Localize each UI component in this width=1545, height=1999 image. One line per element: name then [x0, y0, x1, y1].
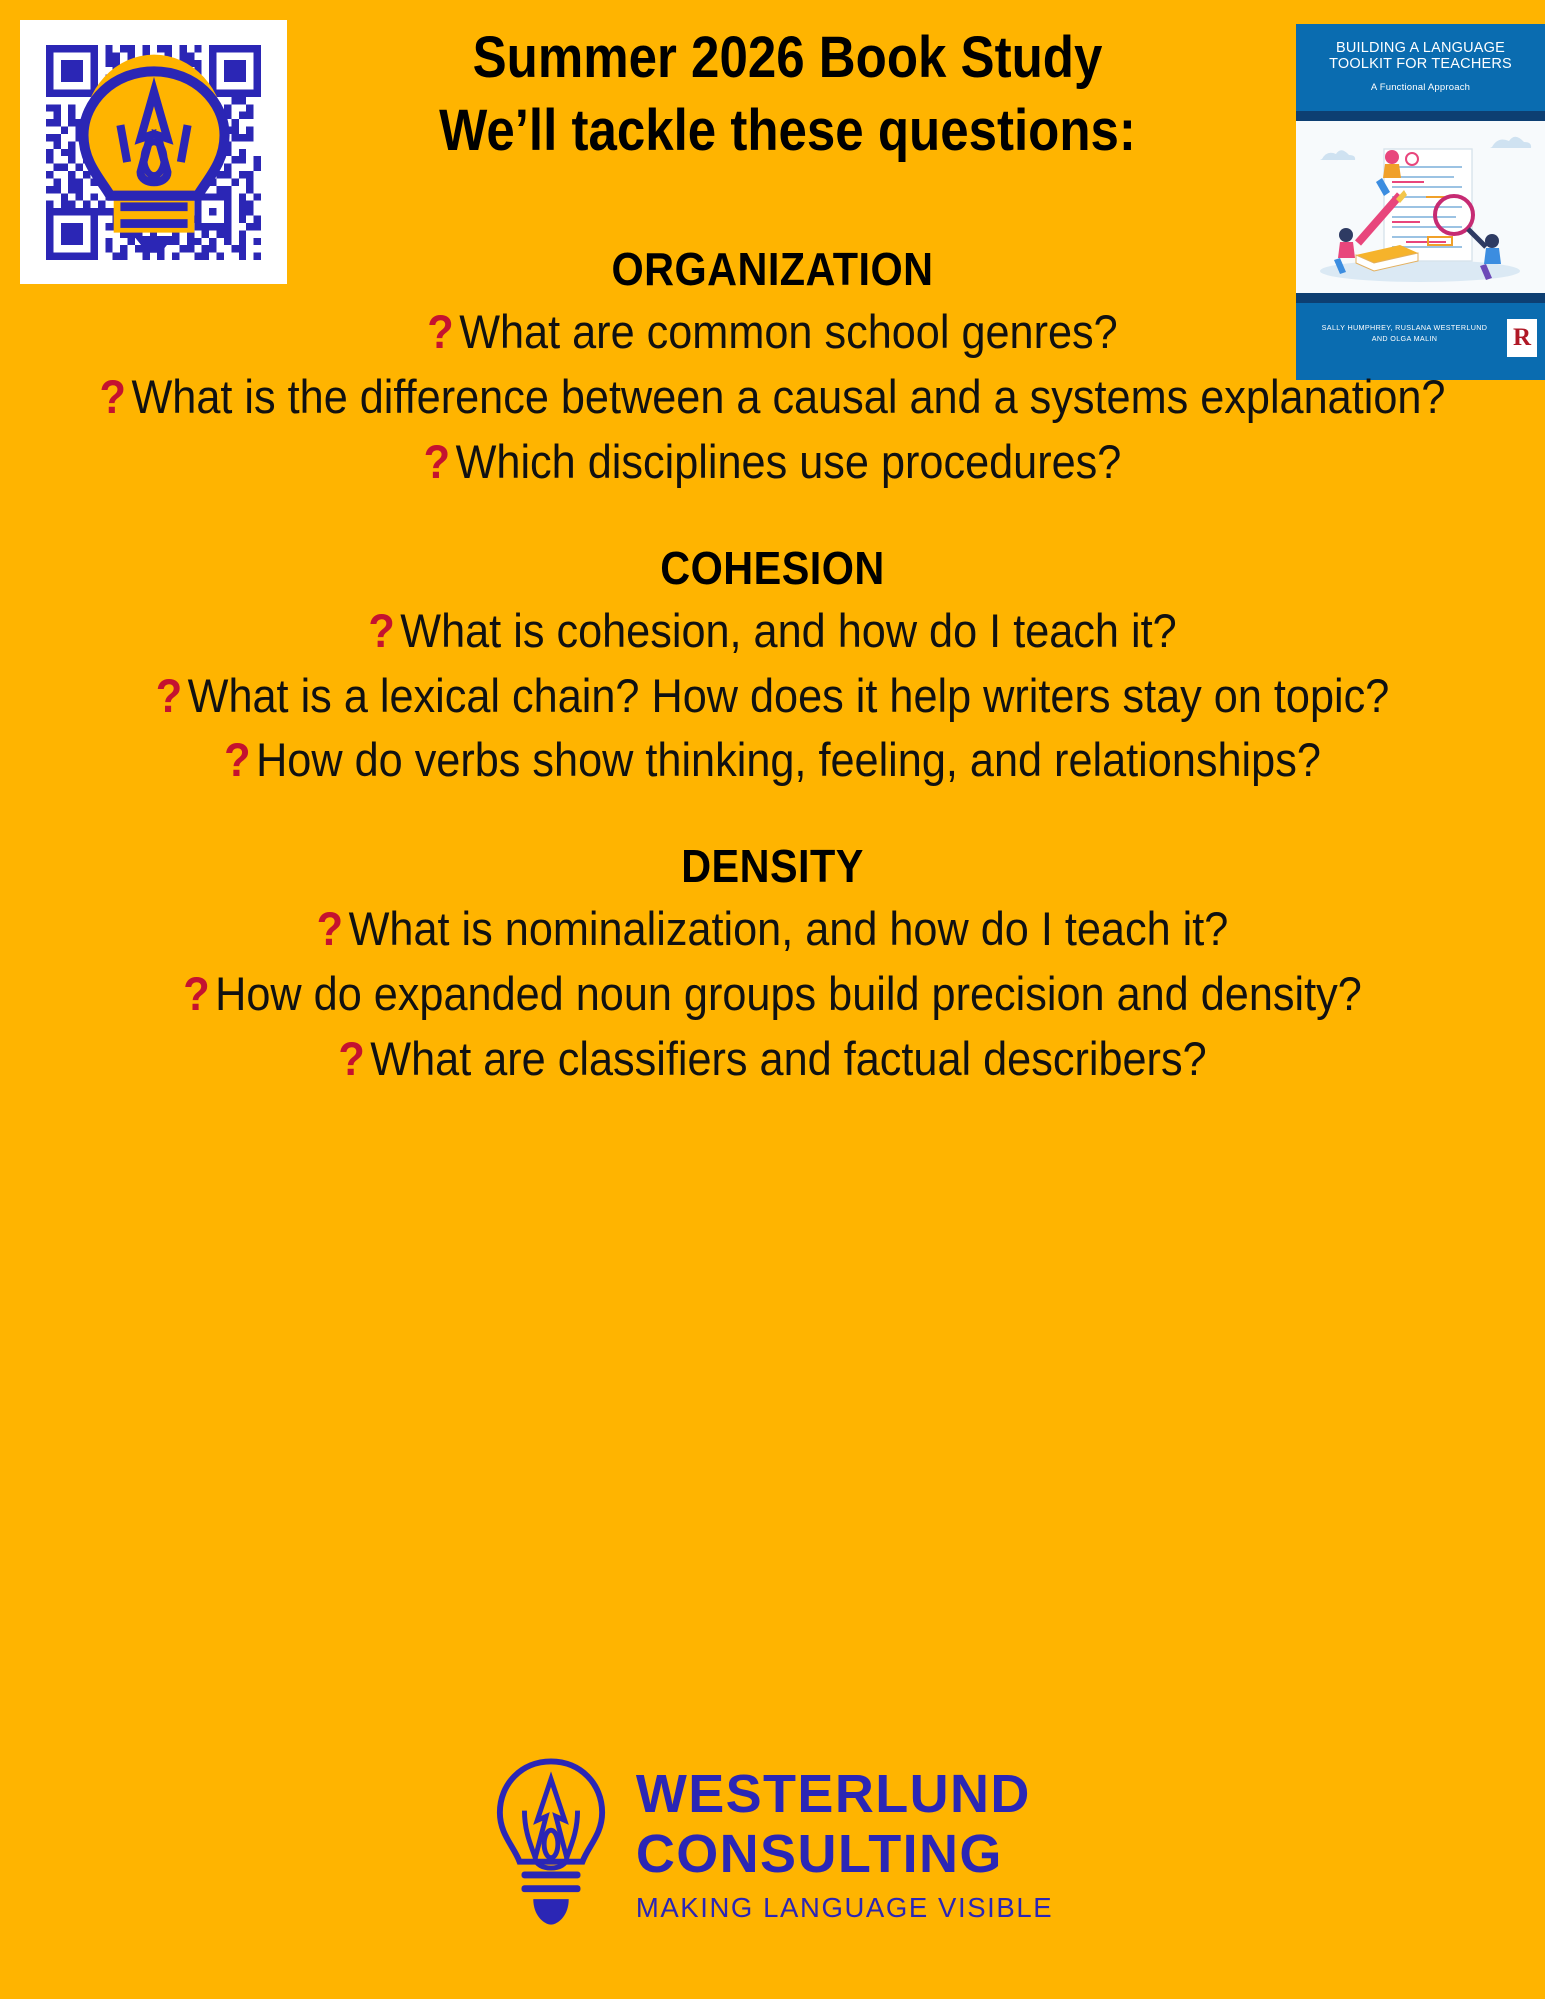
question-text: What is a lexical chain? How does it hel… [188, 669, 1390, 722]
question-mark-icon: ? [100, 370, 132, 423]
section-heading-organization: ORGANIZATION [77, 238, 1468, 300]
poster-root: { "colors": { "background": "#FFB400", "… [0, 0, 1545, 1999]
question-item: ?How do verbs show thinking, feeling, an… [62, 728, 1483, 793]
question-item: ?Which disciplines use procedures? [62, 430, 1483, 495]
page-title: Summer 2026 Book Study We’ll tackle thes… [350, 22, 1226, 167]
question-text: What is the difference between a causal … [131, 370, 1445, 423]
question-item: ?What is nominalization, and how do I te… [62, 897, 1483, 962]
question-text: What are classifiers and factual describ… [370, 1032, 1206, 1085]
lightbulb-icon [492, 1755, 610, 1933]
logo-tagline: MAKING LANGUAGE VISIBLE [636, 1892, 1053, 1924]
qr-code-matrix [46, 45, 261, 260]
question-text: How do expanded noun groups build precis… [215, 967, 1362, 1020]
question-text: How do verbs show thinking, feeling, and… [256, 733, 1321, 786]
section-cohesion: COHESION ?What is cohesion, and how do I… [0, 537, 1545, 794]
questions-content: ORGANIZATION ?What are common school gen… [0, 230, 1545, 1102]
question-mark-icon: ? [183, 967, 215, 1020]
book-title: BUILDING A LANGUAGE TOOLKIT FOR TEACHERS [1306, 40, 1535, 72]
logo-line-consulting: CONSULTING [636, 1824, 1003, 1884]
section-density: DENSITY ?What is nominalization, and how… [0, 835, 1545, 1092]
question-mark-icon: ? [368, 604, 400, 657]
section-heading-cohesion: COHESION [77, 537, 1468, 599]
question-text: Which disciplines use procedures? [456, 435, 1122, 488]
question-mark-icon: ? [156, 669, 188, 722]
question-text: What is cohesion, and how do I teach it? [400, 604, 1176, 657]
question-item: ?What are common school genres? [62, 300, 1483, 365]
westerlund-consulting-logo: WESTERLUND CONSULTING MAKING LANGUAGE VI… [0, 1755, 1545, 1933]
book-subtitle: A Functional Approach [1306, 82, 1535, 93]
question-list-organization: ?What are common school genres? ?What is… [0, 300, 1545, 495]
question-list-density: ?What is nominalization, and how do I te… [0, 897, 1545, 1092]
question-item: ?What is the difference between a causal… [62, 365, 1483, 430]
question-mark-icon: ? [338, 1032, 370, 1085]
question-text: What is nominalization, and how do I tea… [349, 902, 1229, 955]
question-mark-icon: ? [317, 902, 349, 955]
section-organization: ORGANIZATION ?What are common school gen… [0, 238, 1545, 495]
question-mark-icon: ? [427, 305, 459, 358]
question-mark-icon: ? [424, 435, 456, 488]
question-text: What are common school genres? [459, 305, 1118, 358]
lightbulb-icon [46, 45, 261, 260]
section-heading-density: DENSITY [77, 835, 1468, 897]
question-item: ?What is a lexical chain? How does it he… [62, 664, 1483, 729]
logo-wordmark: WESTERLUND CONSULTING MAKING LANGUAGE VI… [636, 1764, 1053, 1925]
book-divider-top [1296, 111, 1545, 121]
question-list-cohesion: ?What is cohesion, and how do I teach it… [0, 599, 1545, 794]
question-item: ?What is cohesion, and how do I teach it… [62, 599, 1483, 664]
question-item: ?How do expanded noun groups build preci… [62, 962, 1483, 1027]
question-mark-icon: ? [224, 733, 256, 786]
logo-line-westerlund: WESTERLUND [636, 1764, 1031, 1824]
question-item: ?What are classifiers and factual descri… [62, 1027, 1483, 1092]
book-cover-header: BUILDING A LANGUAGE TOOLKIT FOR TEACHERS… [1296, 24, 1545, 101]
